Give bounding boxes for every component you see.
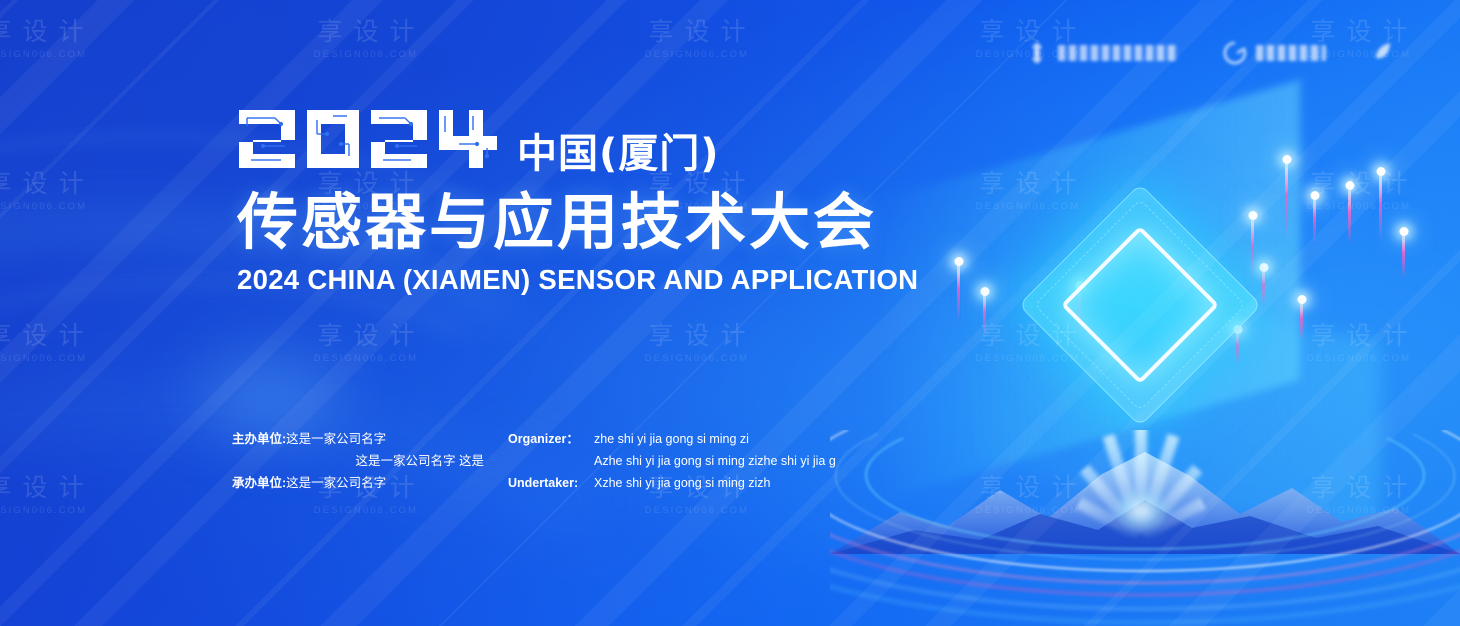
light-particle [1313,196,1316,244]
undertaker-value-en: Xzhe shi yi jia gong si ming zizh [594,472,770,494]
organizer-value2-en: Azhe shi yi jia gong si ming zizhe shi y… [594,450,836,472]
watermark: 享设计DESIGN006.COM [291,20,441,60]
organizer-line-en: Organizer： zhe shi yi jia gong si ming z… [508,428,838,450]
watermark-url: DESIGN006.COM [1284,202,1434,212]
watermark-chinese: 享设计 [0,172,110,197]
conference-title-chinese: 传感器与应用技术大会 [237,190,957,256]
organizer-value2-cn: 这是一家公司名字 这是 [356,450,484,472]
watermark-url: DESIGN006.COM [0,506,110,516]
organizer-info-block: 主办单位: 这是一家公司名字 这是一家公司名字 这是 承办单位: 这是一家公司名… [232,428,838,494]
sponsor-logo-3[interactable] [1370,40,1404,66]
watermark: 享设计DESIGN006.COM [1284,172,1434,212]
sponsor-wordmark [1058,45,1178,61]
organizer-column-chinese: 主办单位: 这是一家公司名字 这是一家公司名字 这是 承办单位: 这是一家公司名… [232,428,484,494]
watermark: 享设计DESIGN006.COM [622,324,772,364]
headline-block: 中国(厦门) 传感器与应用技术大会 2024 CHINA (XIAMEN) SE… [237,104,957,296]
light-particle [957,262,960,322]
light-particle [1300,300,1303,340]
conference-title-english: 2024 CHINA (XIAMEN) SENSOR AND APPLICATI… [237,264,957,296]
watermark-chinese: 享设计 [622,324,772,349]
watermark-url: DESIGN006.COM [291,506,441,516]
sponsor-wordmark [1256,45,1326,61]
platform-base-graphic [830,430,1460,626]
particle-trail [1379,172,1382,242]
sponsor-mark-icon [1370,40,1396,66]
particle-trail [1300,300,1303,340]
watermark-chinese: 享设计 [0,476,110,501]
organizer-line2-en: Azhe shi yi jia gong si ming zizhe shi y… [508,450,838,472]
watermark-chinese: 享设计 [1284,172,1434,197]
watermark-chinese: 享设计 [0,20,110,45]
watermark: 享设计DESIGN006.COM [622,20,772,60]
organizer-label-cn: 主办单位: [232,428,286,450]
watermark-url: DESIGN006.COM [622,506,772,516]
undertaker-label-en: Undertaker: [508,472,594,494]
undertaker-line-cn: 承办单位: 这是一家公司名字 [232,472,484,494]
particle-trail [1313,196,1316,244]
sponsor-mark-icon [1222,40,1248,66]
light-particle [1402,232,1405,278]
organizer-column-english: Organizer： zhe shi yi jia gong si ming z… [508,428,838,494]
watermark-url: DESIGN006.COM [622,354,772,364]
sponsor-logo-1[interactable] [1024,40,1178,66]
organizer-line-cn: 主办单位: 这是一家公司名字 [232,428,484,450]
particle-head [1376,167,1385,176]
watermark: 享设计DESIGN006.COM [0,476,110,516]
particle-trail [983,292,986,336]
watermark-chinese: 享设计 [291,20,441,45]
watermark-chinese: 享设计 [0,324,110,349]
watermark-url: DESIGN006.COM [622,50,772,60]
orbital-ring [830,430,1460,624]
particle-trail [957,262,960,322]
watermark: 享设计DESIGN006.COM [0,324,110,364]
light-particle [983,292,986,336]
watermark: 享设计DESIGN006.COM [0,172,110,212]
watermark-url: DESIGN006.COM [0,50,110,60]
particle-trail [1402,232,1405,278]
undertaker-value-cn: 这是一家公司名字 [286,472,386,494]
particle-head [980,287,989,296]
particle-head [1345,181,1354,190]
sponsor-logo-2[interactable] [1222,40,1326,66]
particle-head [1310,191,1319,200]
year-techno-text [237,104,499,180]
particle-trail [1348,186,1351,244]
city-text: 中国(厦门) [517,134,720,174]
organizer-value-cn: 这是一家公司名字 [286,428,386,450]
undertaker-line-en: Undertaker: Xzhe shi yi jia gong si ming… [508,472,838,494]
particle-head [1297,295,1306,304]
watermark-url: DESIGN006.COM [0,202,110,212]
organizer-label-en: Organizer： [508,428,594,450]
sponsor-logo-row [1024,40,1404,66]
light-particle [1348,186,1351,244]
light-particle [1379,172,1382,242]
watermark-chinese: 享设计 [622,20,772,45]
year-glyphs [237,104,499,180]
undertaker-label-cn: 承办单位: [232,472,286,494]
watermark-url: DESIGN006.COM [291,50,441,60]
sponsor-mark-icon [1024,40,1050,66]
year-and-city-row: 中国(厦门) [237,104,957,180]
event-poster: 享设计DESIGN006.COM享设计DESIGN006.COM享设计DESIG… [0,0,1460,626]
watermark: 享设计DESIGN006.COM [0,20,110,60]
watermark-url: DESIGN006.COM [0,354,110,364]
particle-head [1399,227,1408,236]
organizer-line2-cn: 这是一家公司名字 这是 [232,450,484,472]
organizer-value-en: zhe shi yi jia gong si ming zi [594,428,749,450]
